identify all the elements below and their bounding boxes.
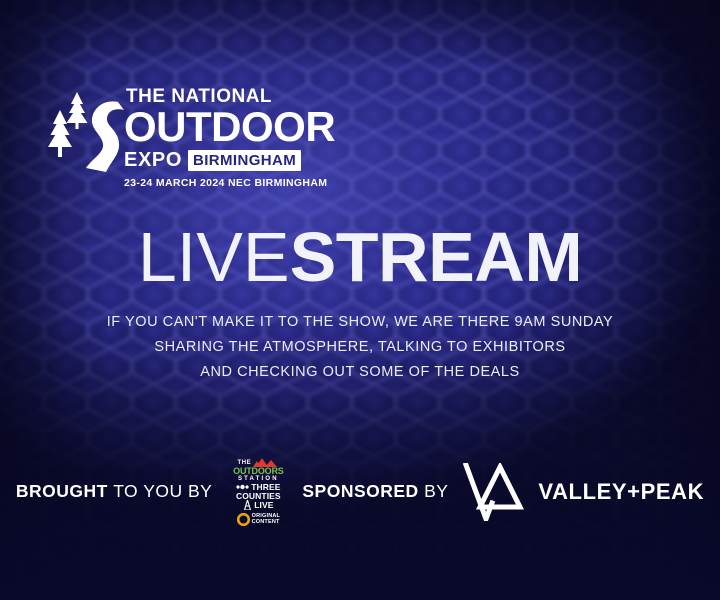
- subcopy-line-1: IF YOU CAN'T MAKE IT TO THE SHOW, WE ARE…: [0, 310, 720, 335]
- three-counties-live-logo[interactable]: THREE COUNTIES LIVE: [236, 483, 281, 510]
- logo-line-dates: 23-24 MARCH 2024 NEC BIRMINGHAM: [124, 178, 346, 189]
- sponsored-by-label: SPONSORED BY: [302, 483, 448, 501]
- valley-peak-triangle-icon: [462, 463, 524, 521]
- original-content-logo[interactable]: ORIGINAL CONTENT: [237, 513, 281, 526]
- logo-line-city: BIRMINGHAM: [188, 150, 301, 171]
- outdoors-station-the: THE: [237, 460, 251, 466]
- sponsor-logo-lockup[interactable]: VALLEY+PEAK: [462, 463, 704, 521]
- event-logo-lockup: THE NATIONAL OUTDOOR EXPO BIRMINGHAM 23-…: [46, 82, 346, 182]
- brought-to-you-by-label: BROUGHT TO YOU BY: [16, 483, 213, 501]
- sponsored-bold: SPONSORED: [302, 481, 418, 501]
- event-logo-wordmark: THE NATIONAL OUTDOOR EXPO BIRMINGHAM 23-…: [124, 82, 346, 188]
- three-counties-counties: COUNTIES: [236, 492, 281, 501]
- poster-content: THE NATIONAL OUTDOOR EXPO BIRMINGHAM 23-…: [0, 0, 720, 600]
- logo-line-outdoor: OUTDOOR: [124, 108, 346, 147]
- partner-logo-stack[interactable]: THE OUTDOORS STATION: [222, 453, 294, 531]
- outdoors-station-outdoors: OUTDOORS: [233, 467, 283, 476]
- subcopy-line-3: AND CHECKING OUT SOME OF THE DEALS: [0, 360, 720, 385]
- logo-line-expo: EXPO: [124, 150, 182, 170]
- three-counties-live: LIVE: [254, 501, 273, 510]
- subcopy-line-2: SHARING THE ATMOSPHERE, TALKING TO EXHIB…: [0, 335, 720, 360]
- broadcast-tower-icon: [243, 500, 252, 510]
- headline-light-part: LIVE: [138, 218, 290, 296]
- headline-bold-part: STREAM: [290, 218, 583, 296]
- livestream-promo-poster: THE NATIONAL OUTDOOR EXPO BIRMINGHAM 23-…: [0, 0, 720, 600]
- sponsored-rest: BY: [424, 481, 448, 501]
- brought-bold: BROUGHT: [16, 481, 108, 501]
- credits-bar: BROUGHT TO YOU BY THE: [0, 462, 720, 522]
- page-title: LIVESTREAM: [0, 222, 720, 292]
- gold-ring-icon: [237, 513, 250, 526]
- original-content-content: CONTENT: [252, 520, 281, 526]
- sponsor-wordmark: VALLEY+PEAK: [538, 481, 704, 503]
- brought-rest: TO YOU BY: [113, 481, 212, 501]
- pine-trees-and-trail-icon: [46, 86, 126, 174]
- subcopy-block: IF YOU CAN'T MAKE IT TO THE SHOW, WE ARE…: [0, 310, 720, 385]
- logo-expo-row: EXPO BIRMINGHAM: [124, 150, 346, 171]
- outdoors-station-logo[interactable]: THE OUTDOORS STATION: [233, 458, 283, 482]
